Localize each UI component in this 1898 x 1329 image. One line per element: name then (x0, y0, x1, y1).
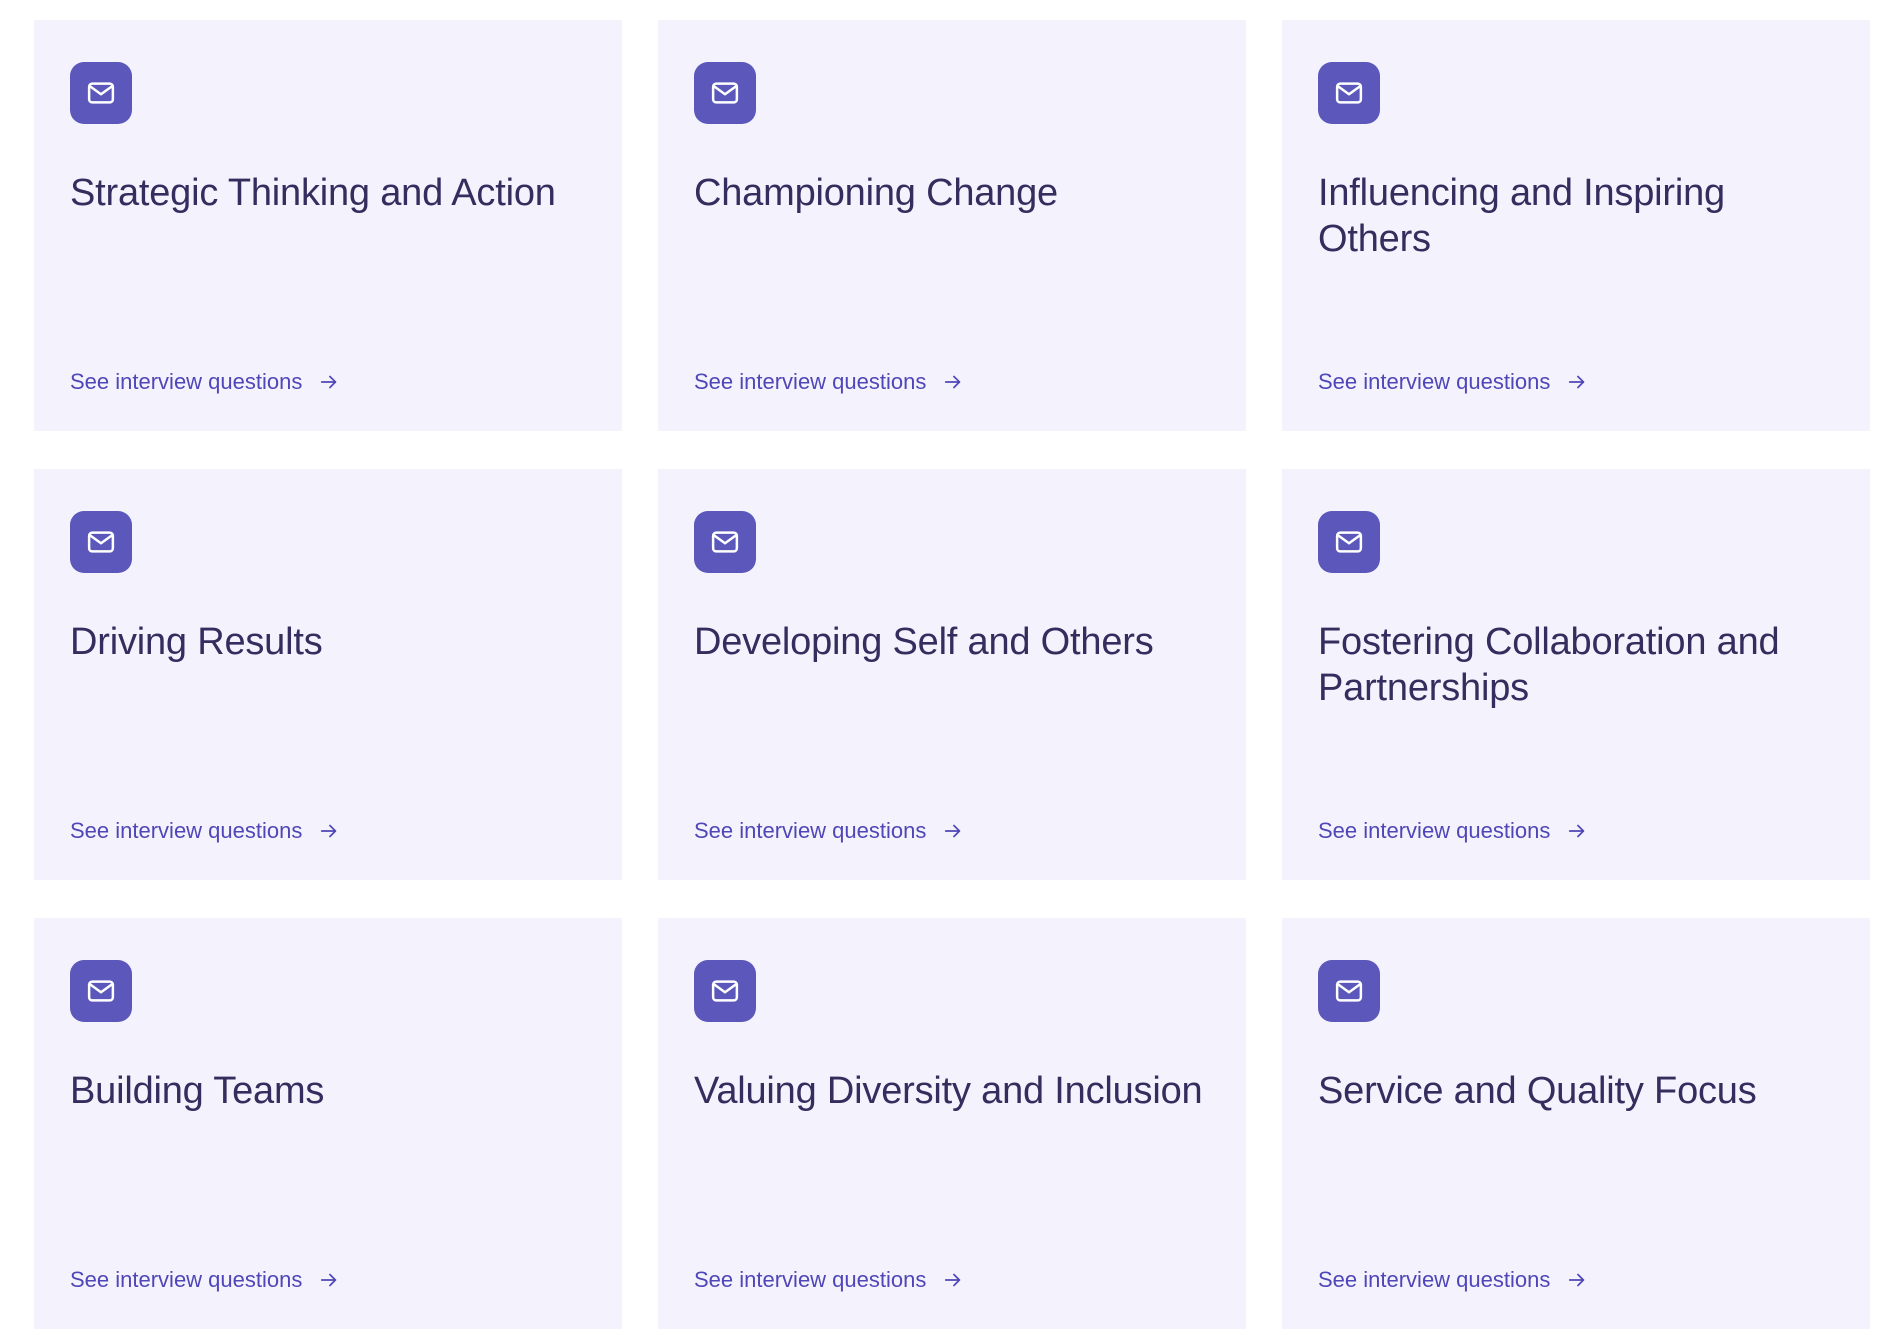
competency-card[interactable]: Influencing and Inspiring Others See int… (1282, 20, 1870, 431)
card-title: Championing Change (694, 170, 1210, 216)
link-label: See interview questions (694, 1269, 926, 1291)
arrow-right-icon (1566, 1269, 1588, 1291)
link-label: See interview questions (70, 820, 302, 842)
arrow-right-icon (318, 1269, 340, 1291)
card-title: Driving Results (70, 619, 586, 665)
card-title: Service and Quality Focus (1318, 1068, 1834, 1114)
card-title: Valuing Diversity and Inclusion (694, 1068, 1210, 1114)
see-interview-questions-link[interactable]: See interview questions (1318, 820, 1588, 842)
arrow-right-icon (942, 820, 964, 842)
envelope-icon (1318, 511, 1380, 573)
card-title: Influencing and Inspiring Others (1318, 170, 1834, 263)
competency-card[interactable]: Valuing Diversity and Inclusion See inte… (658, 918, 1246, 1329)
link-label: See interview questions (1318, 371, 1550, 393)
arrow-right-icon (942, 371, 964, 393)
see-interview-questions-link[interactable]: See interview questions (70, 1269, 340, 1291)
competency-card[interactable]: Developing Self and Others See interview… (658, 469, 1246, 880)
card-title: Fostering Collaboration and Partnerships (1318, 619, 1834, 712)
competency-card[interactable]: Service and Quality Focus See interview … (1282, 918, 1870, 1329)
link-label: See interview questions (70, 1269, 302, 1291)
envelope-icon (1318, 62, 1380, 124)
link-label: See interview questions (1318, 1269, 1550, 1291)
link-label: See interview questions (1318, 820, 1550, 842)
arrow-right-icon (318, 820, 340, 842)
see-interview-questions-link[interactable]: See interview questions (694, 820, 964, 842)
see-interview-questions-link[interactable]: See interview questions (70, 371, 340, 393)
card-title: Building Teams (70, 1068, 586, 1114)
arrow-right-icon (1566, 371, 1588, 393)
link-label: See interview questions (694, 371, 926, 393)
link-label: See interview questions (70, 371, 302, 393)
competency-card[interactable]: Driving Results See interview questions (34, 469, 622, 880)
card-title: Strategic Thinking and Action (70, 170, 586, 216)
competency-card[interactable]: Fostering Collaboration and Partnerships… (1282, 469, 1870, 880)
see-interview-questions-link[interactable]: See interview questions (1318, 1269, 1588, 1291)
envelope-icon (70, 960, 132, 1022)
envelope-icon (694, 62, 756, 124)
competency-card-grid: Strategic Thinking and Action See interv… (34, 20, 1898, 1329)
envelope-icon (70, 62, 132, 124)
card-title: Developing Self and Others (694, 619, 1210, 665)
link-label: See interview questions (694, 820, 926, 842)
see-interview-questions-link[interactable]: See interview questions (694, 1269, 964, 1291)
arrow-right-icon (318, 371, 340, 393)
arrow-right-icon (942, 1269, 964, 1291)
envelope-icon (694, 960, 756, 1022)
arrow-right-icon (1566, 820, 1588, 842)
competency-card[interactable]: Strategic Thinking and Action See interv… (34, 20, 622, 431)
competency-card[interactable]: Building Teams See interview questions (34, 918, 622, 1329)
envelope-icon (1318, 960, 1380, 1022)
competency-card[interactable]: Championing Change See interview questio… (658, 20, 1246, 431)
envelope-icon (70, 511, 132, 573)
see-interview-questions-link[interactable]: See interview questions (694, 371, 964, 393)
see-interview-questions-link[interactable]: See interview questions (1318, 371, 1588, 393)
see-interview-questions-link[interactable]: See interview questions (70, 820, 340, 842)
envelope-icon (694, 511, 756, 573)
